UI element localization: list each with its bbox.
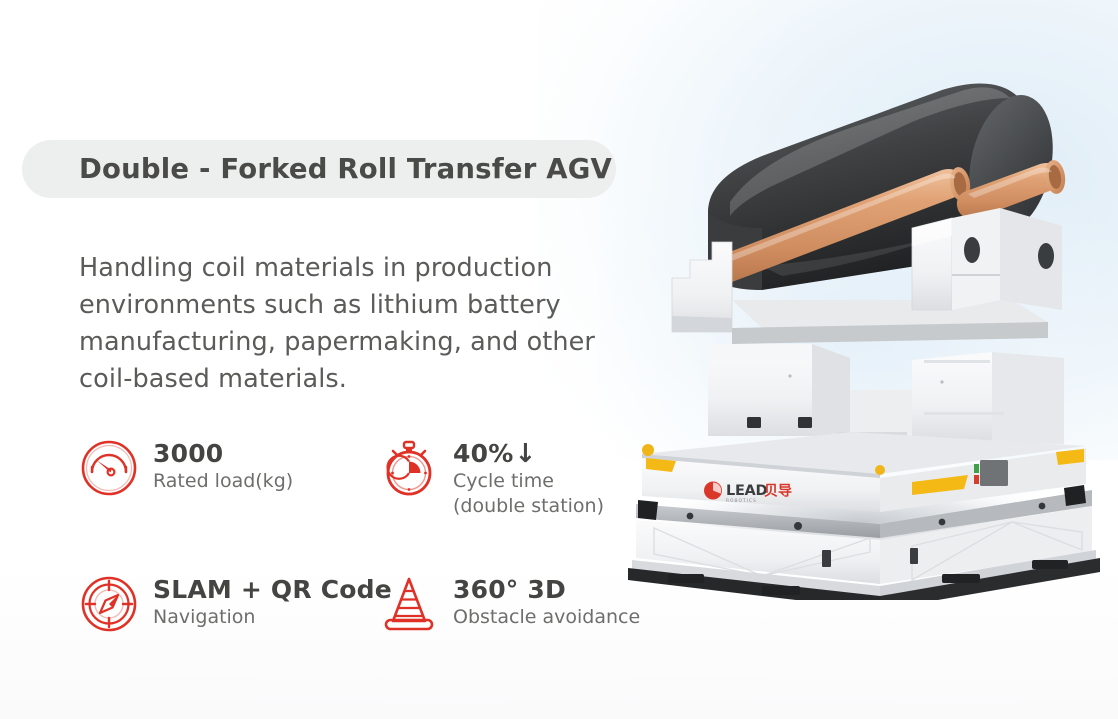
spec-row-1: 3000 Rated load(kg) <box>80 437 650 519</box>
status-led-green <box>974 464 979 473</box>
spec-value: SLAM + QR Code <box>153 575 392 605</box>
stopwatch-icon <box>380 439 438 497</box>
spec-value: 3000 <box>153 439 293 469</box>
spec-label: Cycle time <box>453 469 604 494</box>
traffic-cone-icon <box>380 575 438 633</box>
spec-label: Navigation <box>153 605 392 630</box>
spec-item-navigation: SLAM + QR Code Navigation <box>80 573 380 633</box>
svg-text:ROBOTICS: ROBOTICS <box>726 498 757 504</box>
gauge-icon <box>80 439 138 497</box>
lidar-right <box>1064 485 1086 506</box>
pedestal-port-right <box>798 417 812 428</box>
spec-text-rated-load: 3000 Rated load(kg) <box>153 437 293 494</box>
svg-text:贝导: 贝导 <box>764 484 792 500</box>
page-title: Double - Forked Roll Transfer AGV <box>79 153 612 185</box>
skirt-port-right <box>910 548 918 564</box>
spec-text-cycle-time: 40%↓ Cycle time (double station) <box>453 437 604 519</box>
compass-icon <box>80 575 138 633</box>
spec-value: 360° 3D <box>453 575 640 605</box>
product-slide: LEAD 贝导 ROBOTICS <box>0 0 1118 719</box>
lift-pedestals <box>708 344 1064 444</box>
spec-label-line2: (double station) <box>453 494 604 519</box>
spec-label: Obstacle avoidance <box>453 605 640 630</box>
clamp-sensor-left <box>964 237 980 263</box>
spec-text-obstacle-avoidance: 360° 3D Obstacle avoidance <box>453 573 640 630</box>
spec-value: 40%↓ <box>453 439 604 469</box>
product-image-agv: LEAD 贝导 ROBOTICS <box>612 60 1118 600</box>
spec-row-2: SLAM + QR Code Navigation <box>80 573 650 633</box>
spec-value-number: 40% <box>453 439 513 468</box>
spec-text-navigation: SLAM + QR Code Navigation <box>153 573 392 630</box>
status-led-red <box>974 475 979 484</box>
clamp-sensor-right <box>1038 243 1054 269</box>
product-description: Handling coil materials in production en… <box>79 250 649 398</box>
spec-list: 3000 Rated load(kg) <box>80 437 650 633</box>
page-title-pill: Double - Forked Roll Transfer AGV <box>22 140 616 198</box>
control-panel <box>980 460 1008 486</box>
pedestal-port-left <box>747 417 761 428</box>
text-content: Double - Forked Roll Transfer AGV Handli… <box>0 0 660 719</box>
decrease-arrow-icon: ↓ <box>514 439 536 469</box>
beacon-front <box>875 465 885 475</box>
spec-item-obstacle-avoidance: 360° 3D Obstacle avoidance <box>380 573 650 633</box>
skirt-port-left <box>822 550 831 567</box>
spec-item-cycle-time: 40%↓ Cycle time (double station) <box>380 437 650 519</box>
spec-item-rated-load: 3000 Rated load(kg) <box>80 437 380 519</box>
spec-label: Rated load(kg) <box>153 469 293 494</box>
svg-text:LEAD: LEAD <box>726 483 767 499</box>
